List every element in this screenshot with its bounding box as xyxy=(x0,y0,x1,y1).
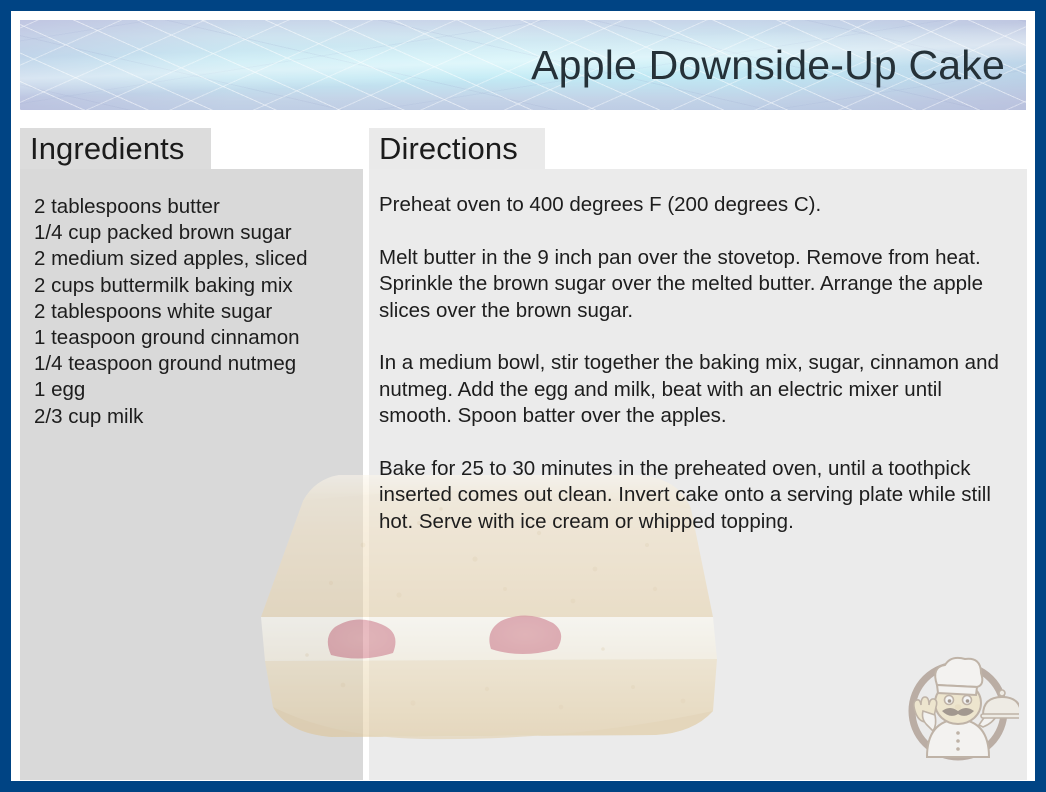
list-item: 2 tablespoons white sugar xyxy=(34,299,349,325)
content-columns: Ingredients 2 tablespoons butter 1/4 cup… xyxy=(20,128,1027,780)
directions-steps: Preheat oven to 400 degrees F (200 degre… xyxy=(379,192,1011,535)
list-item: 1/4 cup packed brown sugar xyxy=(34,220,349,246)
ingredients-column: Ingredients 2 tablespoons butter 1/4 cup… xyxy=(20,128,363,780)
list-item: 1 teaspoon ground cinnamon xyxy=(34,325,349,351)
list-item: 2 medium sized apples, sliced xyxy=(34,246,349,272)
direction-step: Melt butter in the 9 inch pan over the s… xyxy=(379,245,1011,325)
direction-step: Bake for 25 to 30 minutes in the preheat… xyxy=(379,456,1011,536)
directions-tab: Directions xyxy=(369,128,545,169)
directions-column: Directions Preheat oven to 400 degrees F… xyxy=(369,128,1027,780)
ingredients-tab: Ingredients xyxy=(20,128,211,169)
ingredients-tab-label: Ingredients xyxy=(30,133,184,164)
directions-tab-label: Directions xyxy=(379,133,518,164)
list-item: 1 egg xyxy=(34,377,349,403)
list-item: 1/4 teaspoon ground nutmeg xyxy=(34,351,349,377)
ingredients-panel-body: 2 tablespoons butter 1/4 cup packed brow… xyxy=(20,169,363,780)
direction-step: Preheat oven to 400 degrees F (200 degre… xyxy=(379,192,1011,219)
list-item: 2 tablespoons butter xyxy=(34,194,349,220)
title-banner: Apple Downside-Up Cake xyxy=(20,20,1026,110)
list-item: 2 cups buttermilk baking mix xyxy=(34,273,349,299)
directions-panel-body: Preheat oven to 400 degrees F (200 degre… xyxy=(369,169,1027,780)
page-title: Apple Downside-Up Cake xyxy=(531,42,1026,89)
recipe-card: Apple Downside-Up Cake Ingredients 2 tab… xyxy=(0,0,1046,792)
list-item: 2/3 cup milk xyxy=(34,404,349,430)
ingredient-list: 2 tablespoons butter 1/4 cup packed brow… xyxy=(34,194,349,430)
direction-step: In a medium bowl, stir together the baki… xyxy=(379,350,1011,430)
